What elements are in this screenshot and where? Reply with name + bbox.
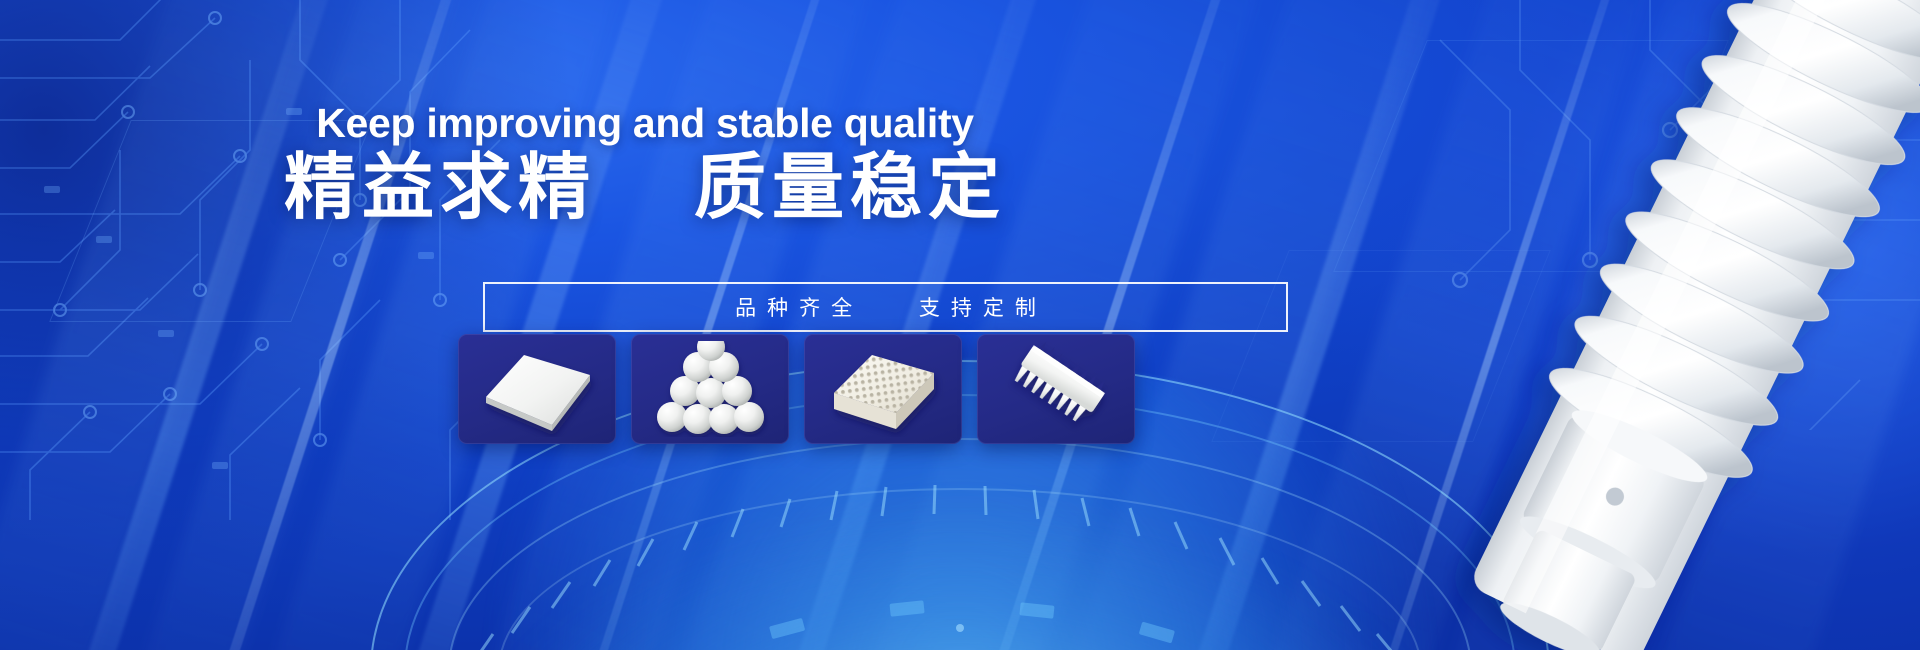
subtitle-band: 品种齐全 支持定制: [483, 282, 1288, 332]
headline-chinese-right: 质量稳定: [694, 148, 1006, 228]
ceramic-tile-plate-icon: [472, 341, 602, 437]
product-card-ceramic-comb-part[interactable]: [977, 334, 1135, 444]
product-card-ceramic-tile-plate[interactable]: [458, 334, 616, 444]
headline-chinese-left: 精益求精: [284, 148, 596, 228]
tagline-english: Keep improving and stable quality: [0, 100, 1290, 147]
subtitle-band-text: 品种齐全 支持定制: [724, 292, 1047, 322]
ceramic-grinding-balls-icon: [650, 341, 770, 437]
headline-chinese: 精益求精 质量稳定: [0, 147, 1290, 230]
banner-stage: Keep improving and stable quality 精益求精 质…: [0, 0, 1920, 650]
product-card-row: [458, 334, 1138, 444]
banner-content: Keep improving and stable quality 精益求精 质…: [0, 0, 1920, 650]
ceramic-comb-part-icon: [991, 341, 1121, 437]
subtitle-right: 支持定制: [919, 297, 1047, 320]
subtitle-left: 品种齐全: [735, 297, 863, 320]
product-card-honeycomb-ceramic-block[interactable]: [804, 334, 962, 444]
honeycomb-ceramic-block-icon: [818, 341, 948, 437]
product-card-ceramic-grinding-balls[interactable]: [631, 334, 789, 444]
